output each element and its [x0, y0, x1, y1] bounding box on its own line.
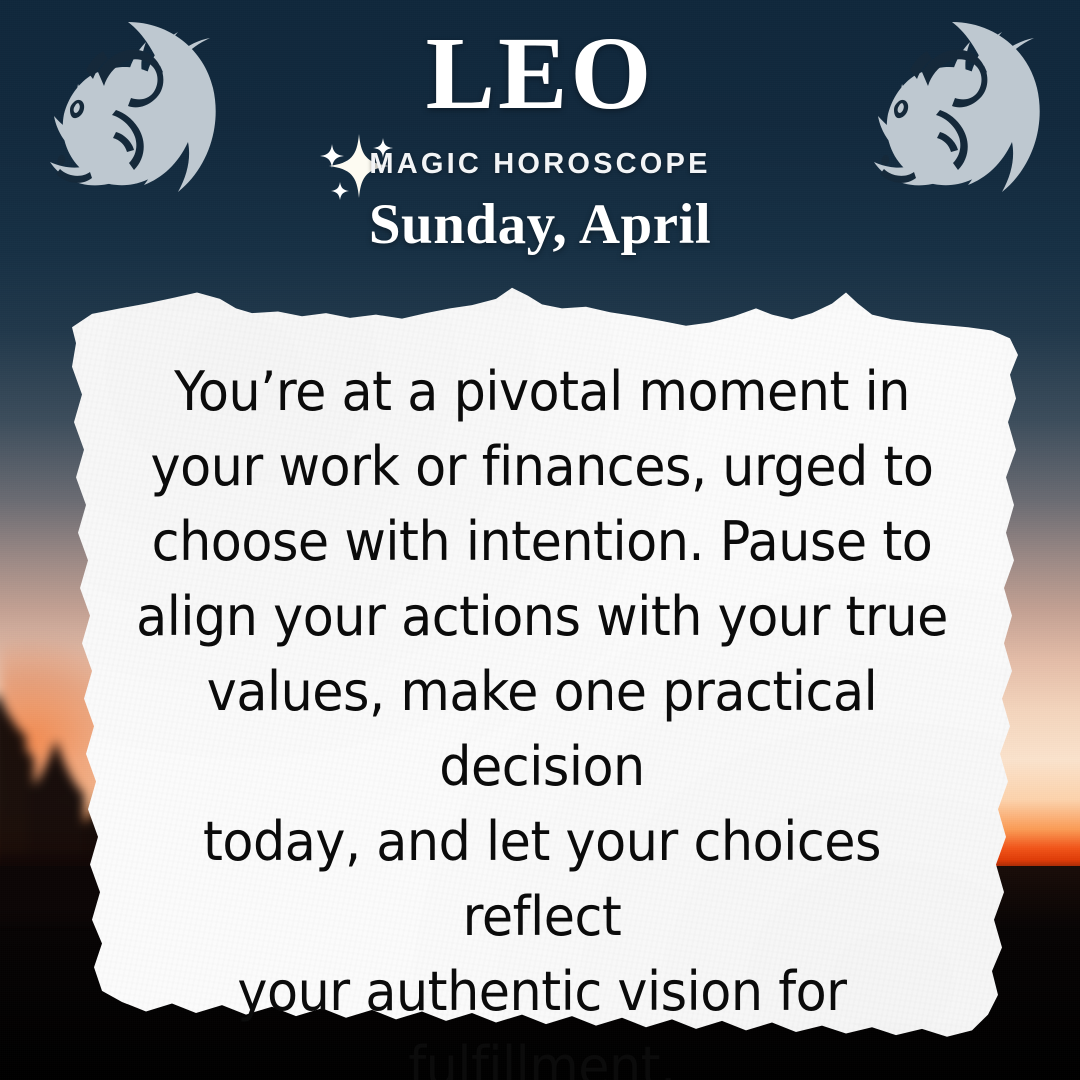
horoscope-line: choose with intention. Pause to	[134, 504, 950, 579]
horoscope-text: You’re at a pivotal moment inyour work o…	[134, 354, 950, 1080]
horoscope-line: You’re at a pivotal moment in	[134, 354, 950, 429]
horoscope-line: today, and let your choices reflect	[134, 804, 950, 954]
page-title: LEO	[0, 22, 1080, 126]
brand-label: MAGIC HOROSCOPE	[0, 148, 1080, 181]
horoscope-line: align your actions with your true	[134, 579, 950, 654]
torn-paper-card: You’re at a pivotal moment inyour work o…	[42, 272, 1042, 1062]
horoscope-card: LEO MAGIC HOROSCOPE Sunday, April You’re…	[0, 0, 1080, 1080]
horoscope-line: your authentic vision for	[134, 954, 950, 1029]
horoscope-line: your work or finances, urged to	[134, 429, 950, 504]
card-header: LEO MAGIC HOROSCOPE Sunday, April	[0, 0, 1080, 290]
horoscope-line: fulfillment.	[134, 1029, 950, 1080]
horoscope-line: values, make one practical decision	[134, 654, 950, 804]
date-label: Sunday, April	[0, 192, 1080, 257]
